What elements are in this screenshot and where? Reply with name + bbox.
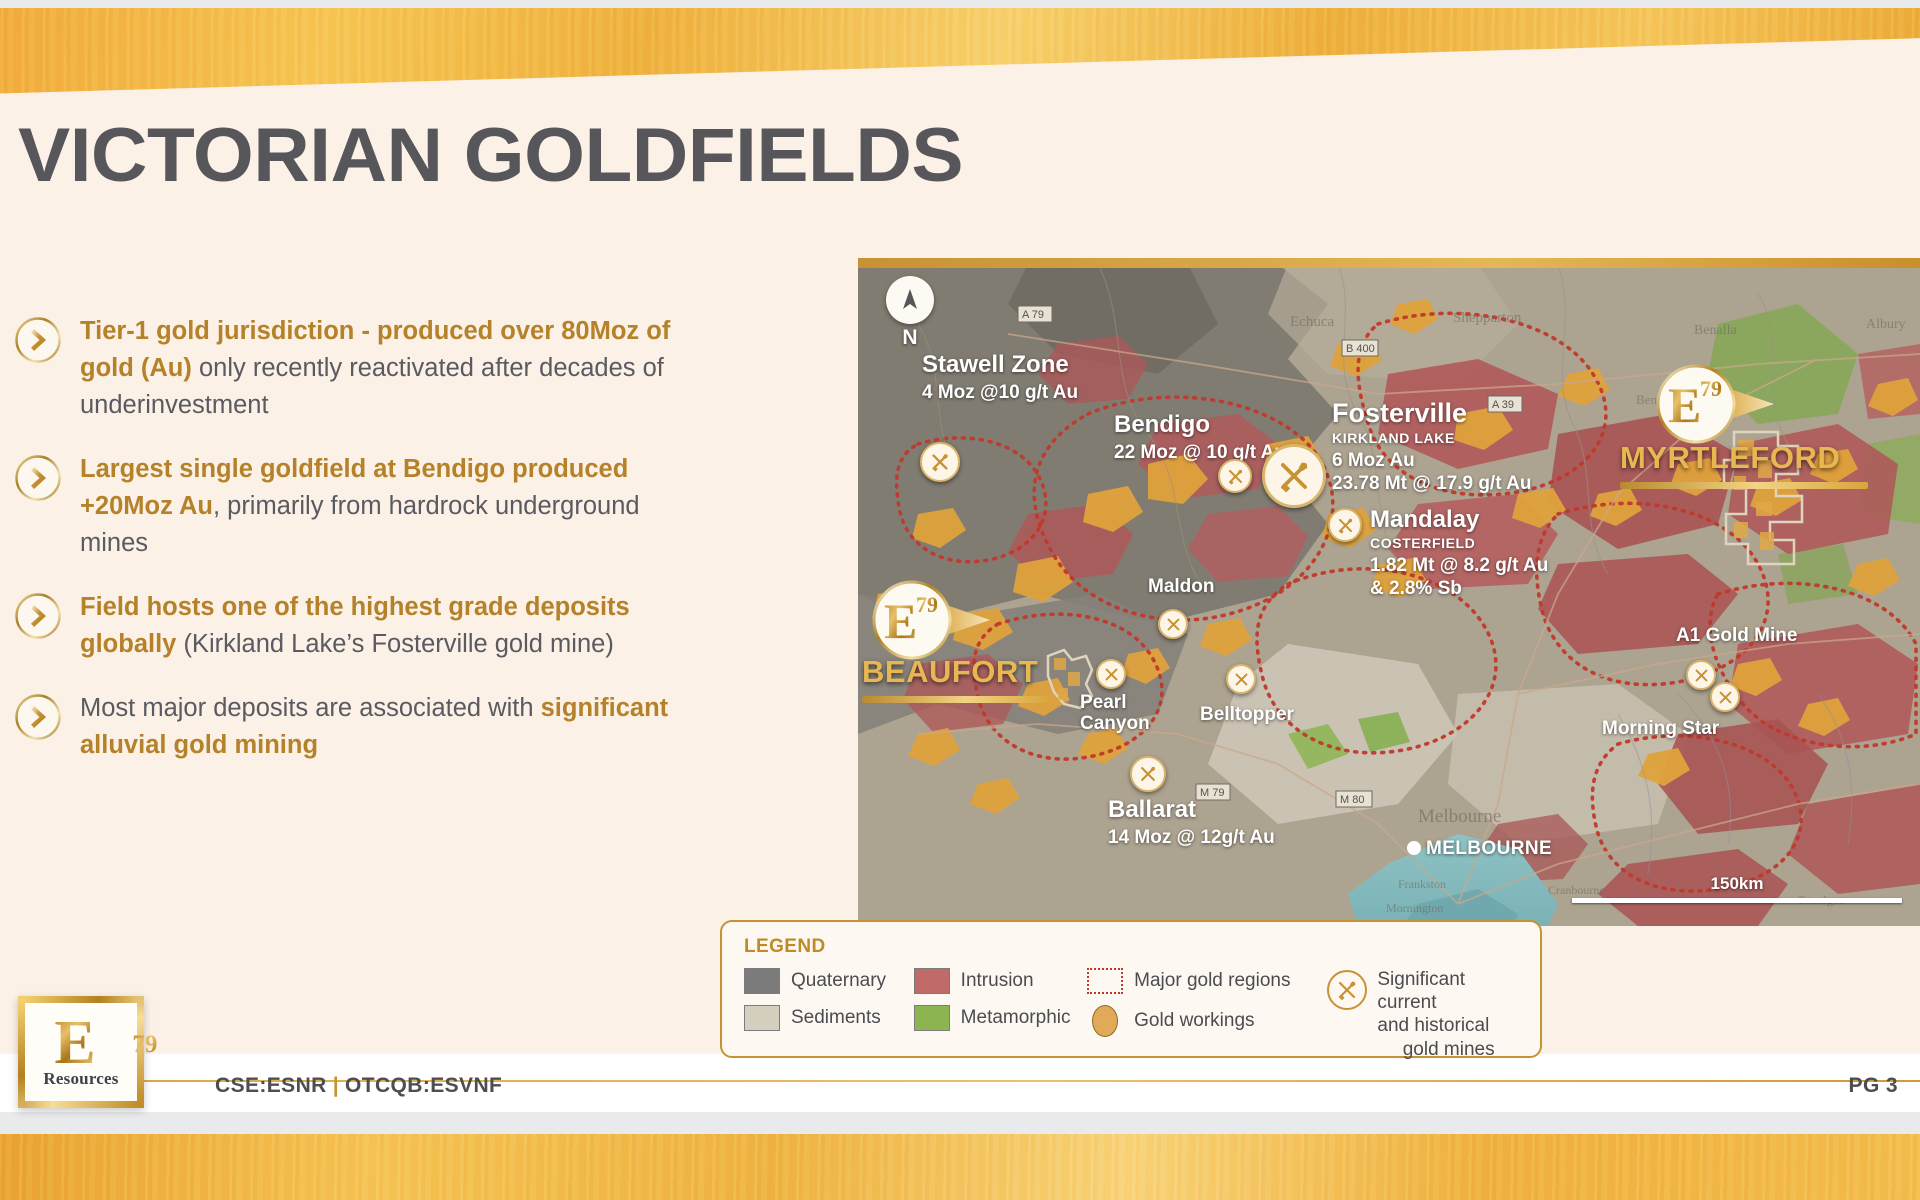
mine-marker-icon[interactable] (1328, 508, 1362, 542)
svg-text:E: E (1668, 377, 1701, 433)
mine-marker-icon[interactable] (1226, 664, 1256, 694)
deposit-subtitle: KIRKLAND LAKE (1332, 431, 1531, 447)
map-legend: LEGEND Quaternary Sediments Intrusion (720, 920, 1542, 1058)
svg-text:Shepparton: Shepparton (1453, 310, 1522, 326)
mine-marker-icon[interactable] (1130, 756, 1166, 792)
legend-label-line: and historical (1377, 1014, 1520, 1037)
top-gold-band (0, 8, 1920, 100)
deposit-name: Stawell Zone (922, 352, 1078, 379)
legend-swatch-sediments (744, 1005, 780, 1031)
svg-text:Frankston: Frankston (1398, 877, 1446, 891)
legend-label-line: gold mines (1377, 1038, 1520, 1061)
bullet-text: Tier-1 gold jurisdiction - produced over… (80, 312, 714, 424)
page-number: PG 3 (1849, 1074, 1898, 1098)
mine-marker-icon[interactable] (1158, 609, 1188, 639)
deposit-label-fosterville: Fosterville KIRKLAND LAKE 6 Moz Au 23.78… (1332, 398, 1531, 494)
map-scale-line (1572, 898, 1902, 903)
svg-text:79: 79 (1700, 376, 1722, 401)
mine-marker-icon[interactable] (1686, 660, 1716, 690)
legend-column-lithology-2: Intrusion Metamorphic (914, 968, 1087, 1031)
city-label-melbourne: MELBOURNE (1426, 838, 1552, 859)
svg-text:M 80: M 80 (1340, 794, 1364, 806)
mine-marker-icon-large[interactable] (1262, 444, 1326, 508)
mine-marker-icon[interactable] (920, 442, 960, 482)
ticker-separator: | (333, 1074, 339, 1097)
minor-label-maldon: Maldon (1148, 576, 1215, 597)
logo-letter: E (54, 1015, 95, 1072)
legend-label: Major gold regions (1134, 970, 1290, 992)
map-scale-label: 150km (1572, 874, 1902, 894)
map-scale-bar: 150km (1572, 874, 1902, 903)
chevron-right-circle-icon (14, 316, 62, 364)
bullet-list: Tier-1 gold jurisdiction - produced over… (14, 312, 714, 790)
legend-column-features: Major gold regions Gold workings (1087, 968, 1327, 1037)
deposit-name: Mandalay (1370, 507, 1548, 534)
minor-label-pearl-canyon: Pearl Canyon (1080, 692, 1150, 735)
svg-text:Benalla: Benalla (1694, 323, 1738, 338)
legend-swatch-major-gold-regions (1087, 968, 1123, 994)
legend-item-gold-workings: Gold workings (1087, 1005, 1327, 1037)
legend-swatch-quaternary (744, 968, 780, 994)
svg-text:B 400: B 400 (1346, 343, 1375, 355)
list-item: Most major deposits are associated with … (14, 689, 714, 764)
ticker-line: CSE:ESNR|OTCQB:ESVNF (215, 1074, 502, 1098)
legend-item-intrusion: Intrusion (914, 968, 1087, 994)
ticker-otcqb: OTCQB:ESVNF (345, 1074, 502, 1097)
bullet-regular: Most major deposits are associated with (80, 694, 541, 722)
deposit-name: Ballarat (1108, 797, 1275, 824)
compass-needle-icon (886, 276, 934, 324)
svg-text:A 79: A 79 (1022, 309, 1044, 321)
logo-superscript: 79 (132, 1031, 157, 1059)
svg-text:79: 79 (916, 592, 938, 617)
legend-item-major-gold-regions: Major gold regions (1087, 968, 1327, 994)
minor-label-a1-gold-mine: A1 Gold Mine (1676, 625, 1797, 646)
deposit-stat: & 2.8% Sb (1370, 578, 1548, 599)
legend-label: Gold workings (1134, 1010, 1254, 1032)
deposit-label-mandalay: Mandalay COSTERFIELD 1.82 Mt @ 8.2 g/t A… (1370, 507, 1548, 599)
slide-root: VICTORIAN GOLDFIELDS (0, 0, 1920, 1200)
chevron-right-circle-icon (14, 693, 62, 741)
bullet-regular: (Kirkland Lake’s Fosterville gold mine) (183, 630, 613, 658)
ticker-cse: CSE:ESNR (215, 1074, 327, 1097)
deposit-stat: 14 Moz @ 12g/t Au (1108, 827, 1275, 848)
list-item: Largest single goldfield at Bendigo prod… (14, 450, 714, 562)
e79-logo: E 79 Resources (18, 996, 144, 1108)
deposit-label-bendigo: Bendigo 22 Moz @ 10 g/t Au (1114, 412, 1286, 463)
svg-text:E: E (884, 593, 917, 649)
mine-marker-icon[interactable] (1218, 459, 1252, 493)
project-town-myrtleford: MYRTLEFORD (1620, 440, 1840, 476)
minor-label-belltopper: Belltopper (1200, 704, 1294, 725)
legend-item-quaternary: Quaternary (744, 968, 914, 994)
svg-text:Mornington: Mornington (1386, 901, 1443, 915)
project-underline-myrtleford (1620, 482, 1868, 489)
list-item: Tier-1 gold jurisdiction - produced over… (14, 312, 714, 424)
deposit-name: Fosterville (1332, 398, 1531, 428)
legend-item-metamorphic: Metamorphic (914, 1005, 1087, 1031)
legend-item-sediments: Sediments (744, 1005, 914, 1031)
page-title: VICTORIAN GOLDFIELDS (18, 118, 963, 194)
project-underline-beaufort (862, 696, 1050, 703)
minor-label-line: Canyon (1080, 713, 1150, 734)
list-item: Field hosts one of the highest grade dep… (14, 588, 714, 663)
bottom-gold-band (0, 1134, 1920, 1200)
deposit-stat: 23.78 Mt @ 17.9 g/t Au (1332, 473, 1531, 494)
deposit-name: Bendigo (1114, 412, 1286, 439)
minor-label-morning-star: Morning Star (1602, 718, 1719, 739)
deposit-stat: 1.82 Mt @ 8.2 g/t Au (1370, 555, 1548, 576)
map-top-accent-bar (858, 258, 1920, 268)
legend-item-significant-mines: Significant current and historical gold … (1327, 968, 1520, 1061)
legend-swatch-intrusion (914, 968, 950, 994)
svg-text:Albury: Albury (1866, 317, 1906, 332)
deposit-stat: 22 Moz @ 10 g/t Au (1114, 442, 1286, 463)
deposit-subtitle: COSTERFIELD (1370, 536, 1548, 552)
bullet-text: Field hosts one of the highest grade dep… (80, 588, 714, 663)
bullet-text: Largest single goldfield at Bendigo prod… (80, 450, 714, 562)
bottom-edge-strip (0, 1112, 1920, 1134)
svg-text:Melbourne: Melbourne (1418, 806, 1501, 827)
deposit-stat: 6 Moz Au (1332, 450, 1531, 471)
legend-label: Intrusion (961, 970, 1034, 992)
legend-label: Metamorphic (961, 1007, 1071, 1029)
mine-marker-icon[interactable] (1710, 682, 1740, 712)
legend-title: LEGEND (744, 936, 1520, 958)
legend-column-lithology-1: Quaternary Sediments (744, 968, 914, 1031)
mine-marker-icon (1327, 970, 1367, 1010)
chevron-right-circle-icon (14, 454, 62, 502)
legend-label-line: Significant current (1377, 968, 1520, 1014)
deposit-stat: 4 Moz @10 g/t Au (922, 382, 1078, 403)
legend-label: Significant current and historical gold … (1377, 968, 1520, 1061)
legend-label: Sediments (791, 1007, 881, 1029)
deposit-label-stawell: Stawell Zone 4 Moz @10 g/t Au (922, 352, 1078, 403)
chevron-right-circle-icon (14, 592, 62, 640)
compass-north-label: N (886, 326, 934, 350)
compass: N (886, 276, 934, 350)
project-town-beaufort: BEAUFORT (862, 654, 1038, 690)
legend-swatch-metamorphic (914, 1005, 950, 1031)
legend-swatch-gold-workings (1092, 1005, 1118, 1037)
minor-label-line: Pearl (1080, 692, 1150, 713)
mine-marker-icon[interactable] (1096, 659, 1126, 689)
geology-map[interactable]: Echuca Shepparton Benalla Albury Melbour… (858, 264, 1920, 926)
legend-label: Quaternary (791, 970, 886, 992)
bullet-text: Most major deposits are associated with … (80, 689, 714, 764)
deposit-label-ballarat: Ballarat 14 Moz @ 12g/t Au (1108, 797, 1275, 848)
svg-text:Echuca: Echuca (1290, 314, 1334, 330)
